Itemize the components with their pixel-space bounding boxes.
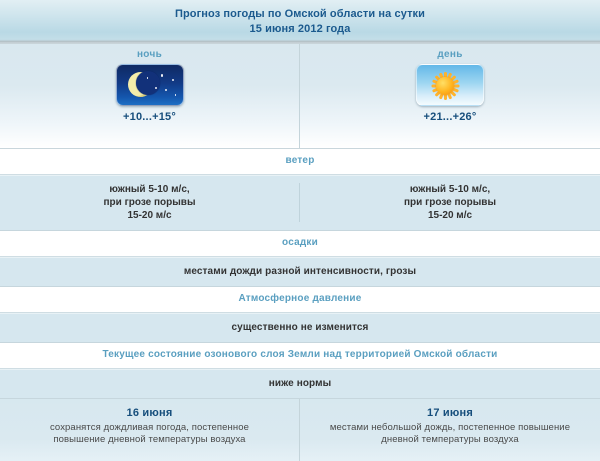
ozone-label: Текущее состояние озонового слоя Земли н… xyxy=(0,343,600,369)
star-icon xyxy=(147,77,149,79)
day-label: день xyxy=(437,49,462,60)
wind-day-value: южный 5-10 м/с, при грозе порывы 15-20 м… xyxy=(300,183,600,222)
outlook-date-1: 16 июня xyxy=(14,407,285,419)
wind-label: ветер xyxy=(0,149,600,175)
outlook-panel: 16 июня сохранятся дождливая погода, пос… xyxy=(0,399,600,461)
wind-day-line-2: при грозе порывы xyxy=(300,196,600,209)
crescent-moon-shape xyxy=(128,72,153,97)
wind-day-line-3: 15-20 м/с xyxy=(300,209,600,222)
star-icon xyxy=(172,79,174,81)
outlook-day-1: 16 июня сохранятся дождливая погода, пос… xyxy=(0,399,300,461)
star-icon xyxy=(155,87,157,89)
wind-night-value: южный 5-10 м/с, при грозе порывы 15-20 м… xyxy=(0,183,300,222)
night-column: ночь +10...+15° xyxy=(0,44,300,148)
wind-night-line-2: при грозе порывы xyxy=(0,196,299,209)
moon-stars-icon xyxy=(116,64,184,106)
pressure-value: существенно не изменится xyxy=(0,313,600,343)
wind-values-row: южный 5-10 м/с, при грозе порывы 15-20 м… xyxy=(0,175,600,231)
outlook-text-1: сохранятся дождливая погода, постепенное… xyxy=(14,422,285,446)
star-icon xyxy=(161,74,164,77)
night-temperature: +10...+15° xyxy=(123,111,176,123)
night-label: ночь xyxy=(137,49,162,60)
page-title-line1: Прогноз погоды по Омской области на сутк… xyxy=(175,7,425,22)
wind-night-line-1: южный 5-10 м/с, xyxy=(0,183,299,196)
sun-shape xyxy=(432,73,458,99)
precipitation-label: осадки xyxy=(0,231,600,257)
outlook-day-2: 17 июня местами небольшой дождь, постепе… xyxy=(300,399,600,461)
pressure-label: Атмосферное давление xyxy=(0,287,600,313)
daynight-panel: ночь +10...+15° день xyxy=(0,44,600,149)
page-title-line2: 15 июня 2012 года xyxy=(250,22,351,37)
outlook-date-2: 17 июня xyxy=(314,407,586,419)
day-column: день +21...+26° xyxy=(300,44,600,148)
wind-night-line-3: 15-20 м/с xyxy=(0,209,299,222)
wind-day-line-1: южный 5-10 м/с, xyxy=(300,183,600,196)
star-icon xyxy=(165,89,167,91)
outlook-text-2: местами небольшой дождь, постепенное пов… xyxy=(314,422,586,446)
day-temperature: +21...+26° xyxy=(424,111,477,123)
sun-icon xyxy=(416,64,484,106)
ozone-value: ниже нормы xyxy=(0,369,600,399)
weather-forecast-widget: Прогноз погоды по Омской области на сутк… xyxy=(0,0,600,461)
precipitation-value: местами дожди разной интенсивности, гроз… xyxy=(0,257,600,287)
widget-header: Прогноз погоды по Омской области на сутк… xyxy=(0,0,600,44)
sun-core xyxy=(436,77,454,95)
star-icon xyxy=(175,94,177,96)
